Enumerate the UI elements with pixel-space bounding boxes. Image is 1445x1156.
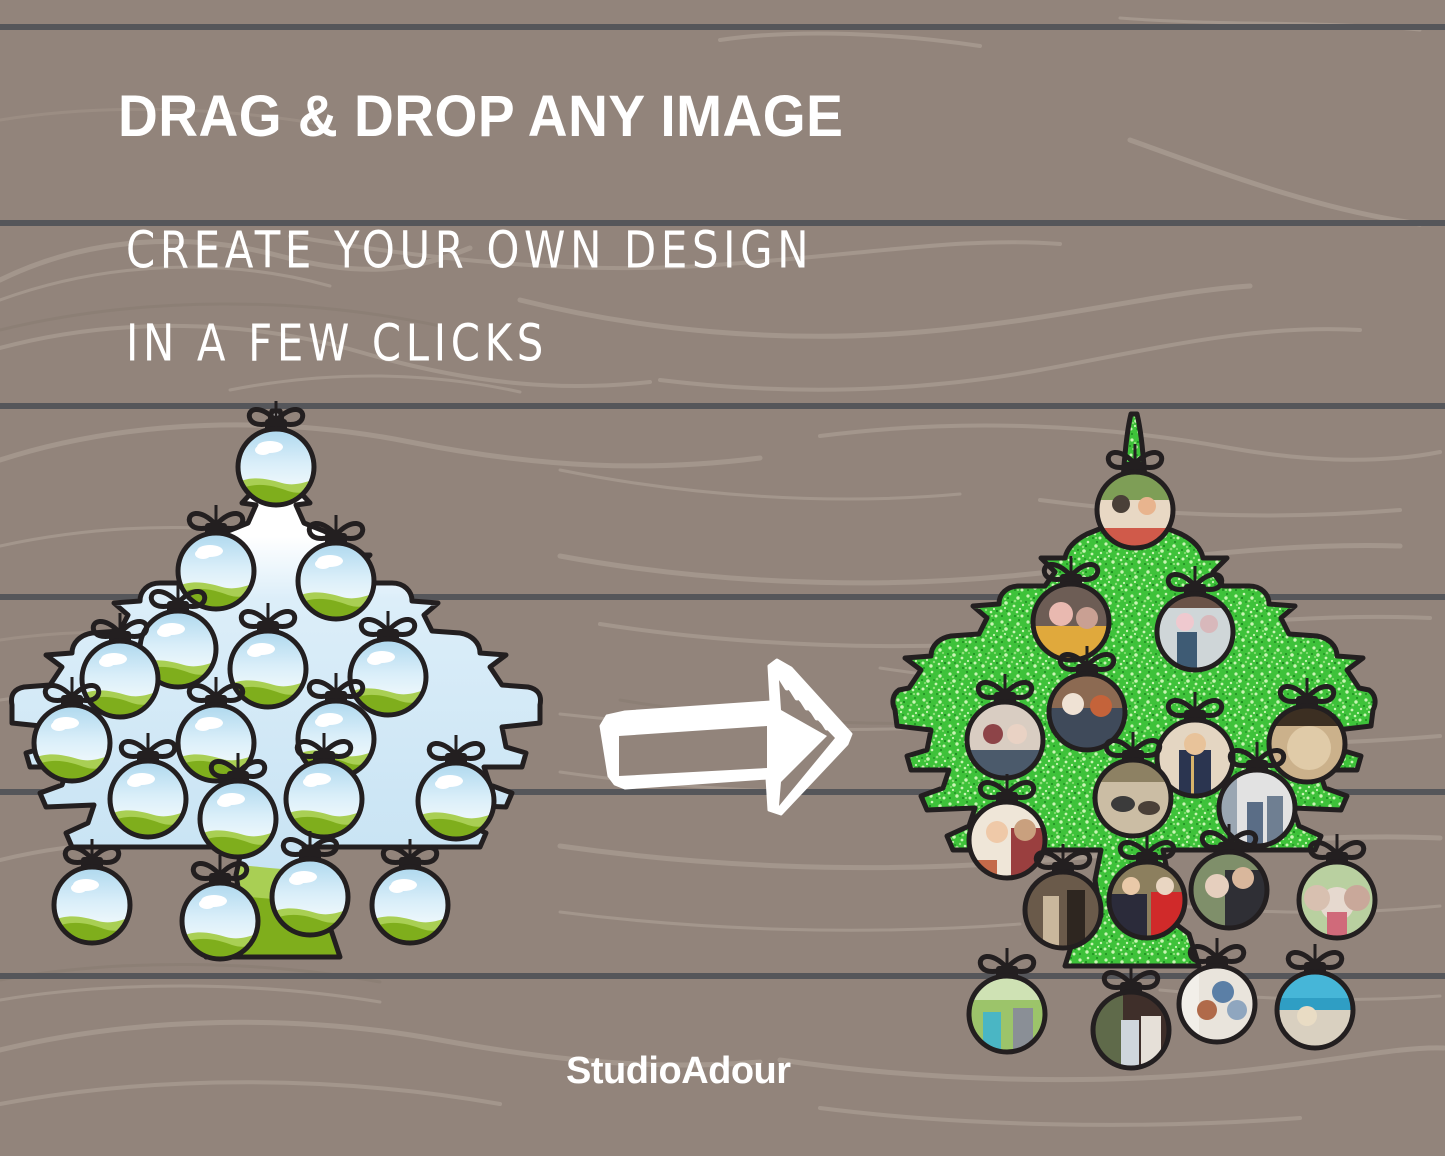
photo-ornament (967, 674, 1043, 778)
left-template-tree[interactable] (10, 405, 550, 1080)
photo-ornament (1093, 964, 1169, 1068)
ornament-placeholder (348, 611, 428, 717)
ornament-placeholder (180, 855, 260, 961)
right-customized-tree[interactable] (895, 410, 1375, 1082)
ornament-placeholder (32, 677, 112, 783)
ornament-placeholder (270, 831, 350, 937)
photo-ornament (969, 948, 1045, 1052)
photo-ornament (1269, 678, 1345, 782)
ornament-placeholder (416, 735, 496, 841)
photo-ornament (1109, 834, 1185, 938)
photo-ornament (1049, 646, 1125, 750)
photo-ornament (1095, 732, 1171, 836)
transform-arrow (595, 650, 860, 830)
right-arrow-icon (601, 660, 851, 814)
photo-ornament (1097, 444, 1173, 548)
photo-ornament (1191, 824, 1267, 928)
ornament-placeholder (236, 401, 316, 507)
photo-ornament (1025, 844, 1101, 948)
photo-ornament (1033, 556, 1109, 660)
ornament-placeholder (52, 839, 132, 945)
photo-ornament (1179, 938, 1255, 1042)
ornament-placeholder (80, 613, 160, 719)
ornament-placeholder (228, 603, 308, 709)
plank-line (0, 24, 1445, 30)
ornament-placeholder (370, 839, 450, 945)
promo-canvas: DRAG & DROP ANY IMAGE CREATE YOUR OWN DE… (0, 0, 1445, 1156)
photo-ornament (969, 774, 1045, 878)
brand-wordmark: StudioAdour (566, 1050, 791, 1093)
photo-ornament (1157, 566, 1233, 670)
photo-ornament (1277, 944, 1353, 1048)
ornament-placeholder (108, 733, 188, 839)
photo-ornament (1299, 834, 1375, 938)
subtitle-line-2: IN A FEW CLICKS (126, 318, 548, 368)
ornament-placeholder (296, 515, 376, 621)
ornament-placeholder (198, 753, 278, 859)
page-title: DRAG & DROP ANY IMAGE (118, 88, 843, 146)
subtitle-line-1: CREATE YOUR OWN DESIGN (126, 225, 813, 275)
ornament-placeholder (284, 733, 364, 839)
